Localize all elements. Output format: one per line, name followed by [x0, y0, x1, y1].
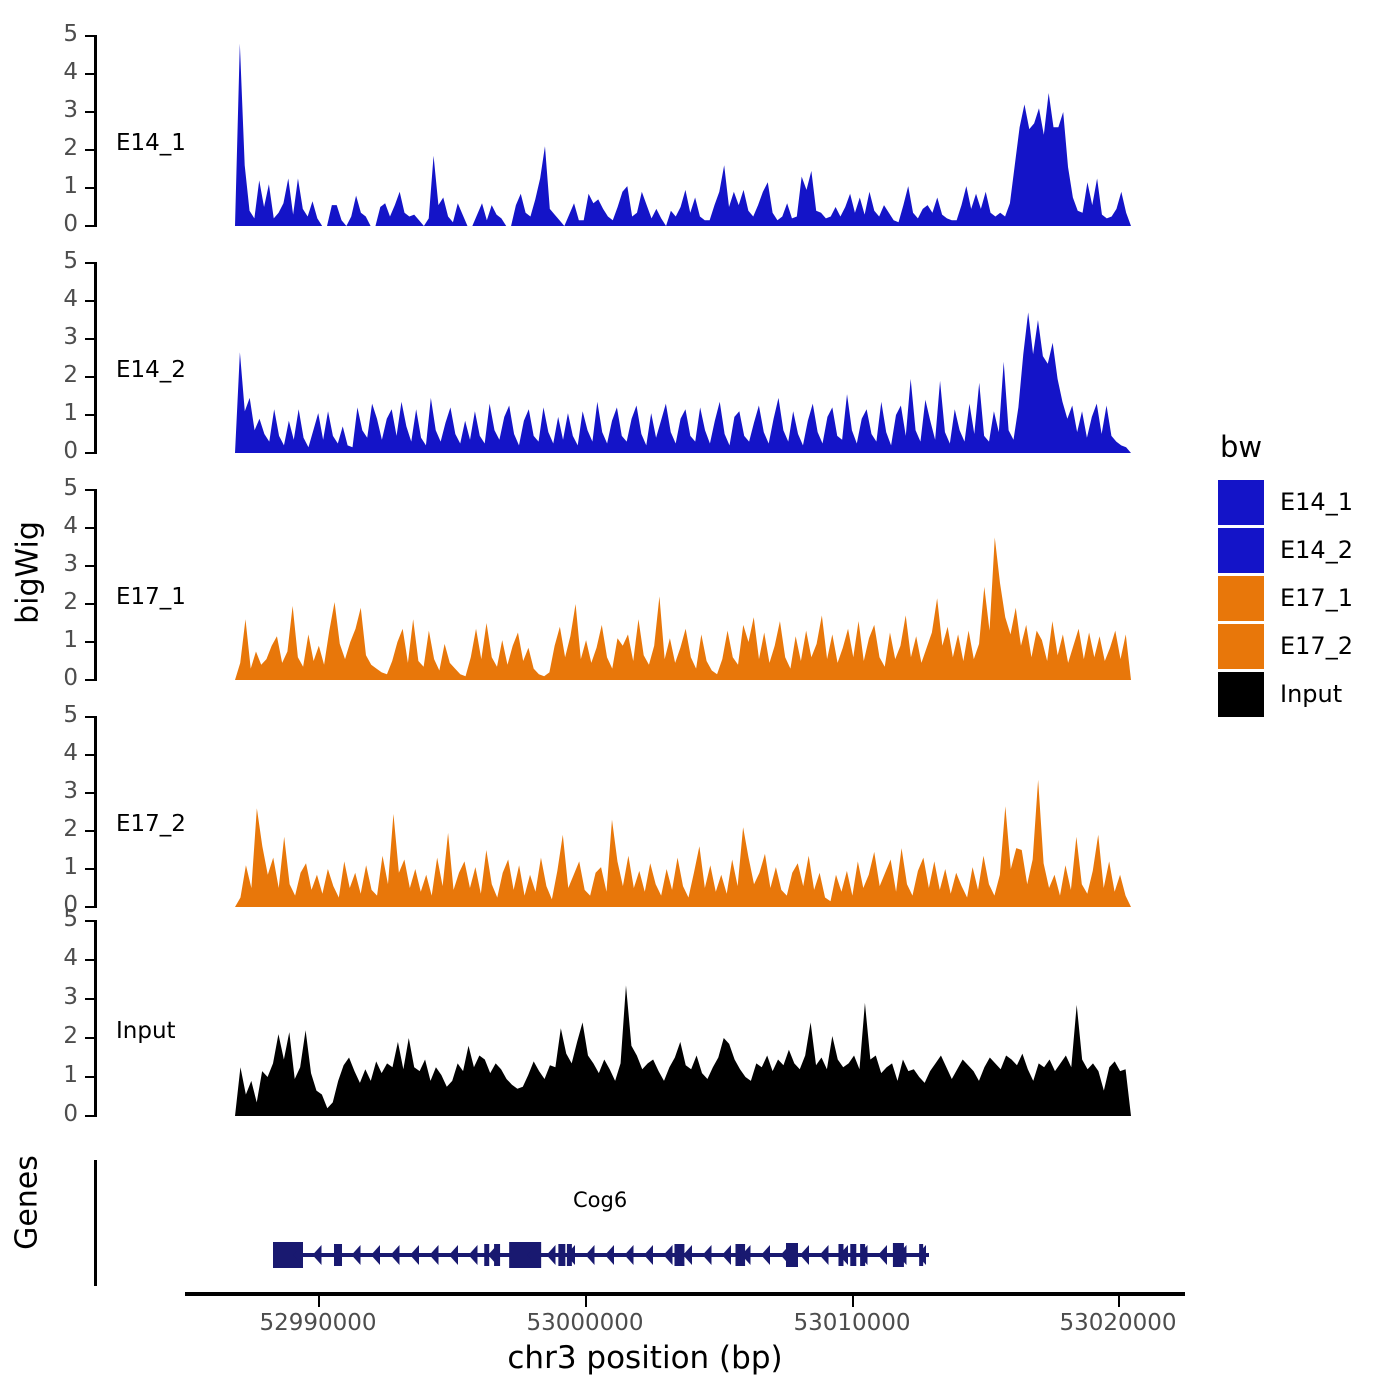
y-tick-label: 1	[63, 402, 78, 425]
legend: bw E14_1E14_2E17_1E17_2Input	[1218, 430, 1353, 718]
y-tick	[85, 187, 94, 189]
track-label-e14_1: E14_1	[116, 130, 186, 156]
y-tick-label: 1	[63, 1064, 78, 1087]
genome-browser-figure: bigWig Genes 543210E14_1543210E14_254321…	[0, 0, 1400, 1400]
y-tick	[85, 338, 94, 340]
y-tick-label: 3	[63, 986, 78, 1009]
x-tick-label: 53010000	[793, 1310, 910, 1336]
y-tick-label: 2	[63, 1025, 78, 1048]
y-tick	[85, 262, 94, 264]
y-tick-label: 4	[63, 515, 78, 538]
y-axis-title-bigwig: bigWig	[11, 483, 46, 663]
legend-swatch	[1218, 672, 1264, 717]
x-tick	[1118, 1296, 1120, 1307]
y-tick-label: 0	[63, 213, 78, 236]
y-tick	[85, 906, 94, 908]
y-tick	[85, 679, 94, 681]
y-tick-label: 5	[63, 704, 78, 727]
y-axis-line	[94, 35, 97, 227]
genes-axis-line	[94, 1160, 97, 1286]
y-tick	[85, 641, 94, 643]
legend-label: E14_1	[1280, 488, 1353, 516]
y-tick-label: 0	[63, 667, 78, 690]
legend-item-e17_2[interactable]: E17_2	[1218, 622, 1353, 670]
y-tick-label: 0	[63, 1103, 78, 1126]
y-tick-label: 2	[63, 364, 78, 387]
gene-model[interactable]	[94, 1160, 1194, 1286]
y-tick	[85, 300, 94, 302]
y-tick	[85, 792, 94, 794]
legend-label: E17_1	[1280, 584, 1353, 612]
legend-label: E14_2	[1280, 536, 1353, 564]
y-tick-label: 3	[63, 553, 78, 576]
y-tick	[85, 452, 94, 454]
y-axis-line	[94, 262, 97, 454]
x-tick-label: 52990000	[259, 1310, 376, 1336]
gene-label: Cog6	[573, 1188, 627, 1212]
y-tick-label: 3	[63, 99, 78, 122]
y-tick-label: 1	[63, 629, 78, 652]
legend-swatch	[1218, 528, 1264, 573]
x-axis-title: chr3 position (bp)	[0, 1340, 1290, 1376]
y-tick-label: 2	[63, 591, 78, 614]
x-tick	[852, 1296, 854, 1307]
y-tick	[85, 414, 94, 416]
track-label-e17_2: E17_2	[116, 811, 186, 837]
signal-track-e14_2[interactable]	[235, 262, 1131, 454]
track-panel-e14_2: 543210E14_2	[94, 262, 1194, 458]
y-tick-label: 1	[63, 175, 78, 198]
y-tick	[85, 73, 94, 75]
track-panel-e14_1: 543210E14_1	[94, 35, 1194, 231]
x-tick	[318, 1296, 320, 1307]
y-tick-label: 3	[63, 780, 78, 803]
y-tick-label: 2	[63, 137, 78, 160]
legend-swatch	[1218, 480, 1264, 525]
y-tick	[85, 868, 94, 870]
legend-title: bw	[1220, 430, 1353, 464]
y-tick-label: 0	[63, 440, 78, 463]
signal-track-e17_2[interactable]	[235, 716, 1131, 908]
legend-item-e14_2[interactable]: E14_2	[1218, 526, 1353, 574]
y-tick	[85, 1037, 94, 1039]
y-tick-label: 5	[63, 250, 78, 273]
y-tick	[85, 527, 94, 529]
y-tick	[85, 489, 94, 491]
track-label-e14_2: E14_2	[116, 357, 186, 383]
y-tick-label: 4	[63, 742, 78, 765]
y-tick	[85, 959, 94, 961]
legend-items: E14_1E14_2E17_1E17_2Input	[1218, 478, 1353, 718]
legend-label: E17_2	[1280, 632, 1353, 660]
track-label-e17_1: E17_1	[116, 584, 186, 610]
y-tick-label: 4	[63, 61, 78, 84]
y-tick	[85, 998, 94, 1000]
track-label-input: Input	[116, 1018, 176, 1044]
y-tick	[85, 149, 94, 151]
y-tick-label: 4	[63, 288, 78, 311]
y-tick	[85, 111, 94, 113]
y-tick-label: 5	[63, 23, 78, 46]
track-panel-input: 543210Input	[94, 920, 1194, 1121]
track-panel-e17_2: 543210E17_2	[94, 716, 1194, 912]
genes-track-panel: Cog6	[94, 1160, 1194, 1290]
y-tick	[85, 35, 94, 37]
y-axis-line	[94, 489, 97, 681]
signal-track-e17_1[interactable]	[235, 489, 1131, 681]
y-tick	[85, 920, 94, 922]
legend-swatch	[1218, 576, 1264, 621]
y-tick-label: 1	[63, 856, 78, 879]
signal-track-input[interactable]	[235, 920, 1131, 1117]
y-tick	[85, 376, 94, 378]
legend-label: Input	[1280, 680, 1342, 708]
legend-item-e17_1[interactable]: E17_1	[1218, 574, 1353, 622]
legend-item-e14_1[interactable]: E14_1	[1218, 478, 1353, 526]
y-axis-line	[94, 920, 97, 1117]
y-tick-label: 5	[63, 477, 78, 500]
y-tick	[85, 225, 94, 227]
legend-item-input[interactable]: Input	[1218, 670, 1353, 718]
y-tick	[85, 754, 94, 756]
x-tick-label: 53000000	[526, 1310, 643, 1336]
y-tick	[85, 1076, 94, 1078]
signal-track-e14_1[interactable]	[235, 35, 1131, 227]
legend-swatch	[1218, 624, 1264, 669]
y-tick	[85, 603, 94, 605]
track-panel-e17_1: 543210E17_1	[94, 489, 1194, 685]
y-tick	[85, 1115, 94, 1117]
y-tick-label: 5	[63, 908, 78, 931]
y-tick	[85, 830, 94, 832]
x-tick-label: 53020000	[1059, 1310, 1176, 1336]
y-axis-line	[94, 716, 97, 908]
y-axis-title-genes: Genes	[10, 1138, 45, 1268]
x-axis-line	[185, 1292, 1185, 1296]
x-tick	[585, 1296, 587, 1307]
y-tick	[85, 716, 94, 718]
y-tick	[85, 565, 94, 567]
y-tick-label: 4	[63, 947, 78, 970]
y-tick-label: 2	[63, 818, 78, 841]
y-tick-label: 3	[63, 326, 78, 349]
